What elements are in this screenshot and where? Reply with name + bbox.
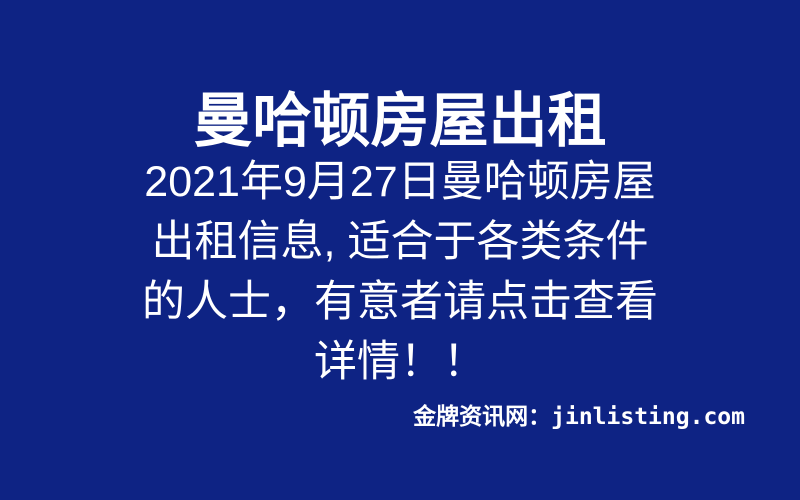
body-line: 的人士，有意者请点击查看 bbox=[100, 272, 700, 332]
footer-site-label: 金牌资讯网： bbox=[413, 403, 551, 429]
body-line: 详情！！ bbox=[100, 332, 700, 392]
body-text-block: 2021年9月27日曼哈顿房屋 出租信息, 适合于各类条件 的人士，有意者请点击… bbox=[100, 152, 700, 392]
body-line: 出租信息, 适合于各类条件 bbox=[100, 212, 700, 272]
watermark-footer: 金牌资讯网：jinlisting.com bbox=[0, 397, 800, 431]
body-line: 2021年9月27日曼哈顿房屋 bbox=[100, 152, 700, 212]
footer-site-url: jinlisting.com bbox=[551, 404, 745, 430]
page-title: 曼哈顿房屋出租 bbox=[193, 88, 606, 154]
promo-poster: 曼哈顿房屋出租 2021年9月27日曼哈顿房屋 出租信息, 适合于各类条件 的人… bbox=[0, 0, 800, 500]
